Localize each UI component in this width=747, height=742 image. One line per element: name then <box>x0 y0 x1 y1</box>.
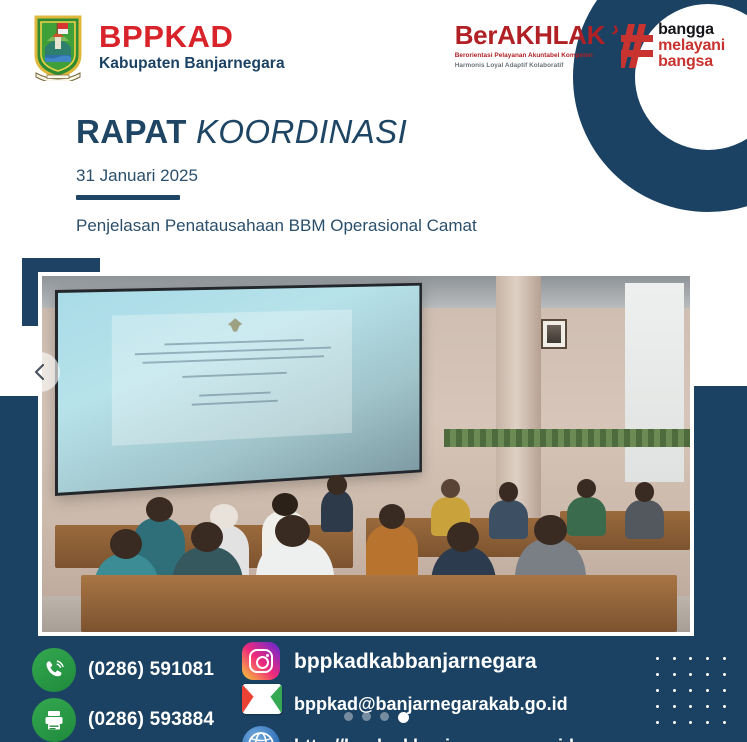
fax-icon <box>32 698 76 742</box>
contact-bar: (0286) 591081 (0286) 593884 <box>0 640 640 742</box>
poster-root: BPPKAD Kabupaten Banjarnegara BerAKHLAK … <box>0 0 747 742</box>
carousel-dot[interactable] <box>344 712 353 721</box>
email-row[interactable]: bppkad@banjarnegarakab.go.id <box>242 684 640 724</box>
fax-number: (0286) 593884 <box>88 709 214 731</box>
instagram-row[interactable]: bppkadkabbanjarnegara <box>242 642 640 682</box>
phone-row: (0286) 591081 <box>32 648 232 692</box>
berakhlak-logo: BerAKHLAK › Berorientasi Pelayanan Akunt… <box>455 22 611 70</box>
bangga-line-1: bangga <box>658 22 725 38</box>
carousel-prev-button[interactable] <box>20 352 60 392</box>
carousel-dots[interactable] <box>344 712 409 723</box>
carousel-dot[interactable] <box>380 712 389 721</box>
wall-portrait <box>541 319 567 349</box>
phone-number: (0286) 591081 <box>88 659 214 681</box>
title-word-italic: KOORDINASI <box>196 113 407 150</box>
berakhlak-wordmark: BerAKHLAK <box>455 22 605 48</box>
meeting-photo-frame <box>38 272 694 636</box>
gmail-icon <box>242 684 282 714</box>
regency-crest-icon <box>30 11 86 81</box>
globe-icon-wrap <box>242 726 282 742</box>
fax-icon-wrap <box>32 698 76 742</box>
title-rule <box>76 195 180 200</box>
brand-title: BPPKAD <box>99 21 285 52</box>
instagram-handle: bppkadkabbanjarnegara <box>294 650 537 674</box>
bangga-melayani-bangsa-logo: bangga melayani bangsa <box>621 22 725 71</box>
event-date: 31 Januari 2025 <box>76 166 477 186</box>
website-row[interactable]: http://bppkad.banjarnegara.go.id <box>242 726 640 742</box>
hashtag-icon <box>621 24 653 68</box>
web-column: bppkadkabbanjarnegara bppkad@banjarnegar… <box>242 640 640 742</box>
brand-lockup: BPPKAD Kabupaten Banjarnegara <box>30 11 285 81</box>
bangga-lines: bangga melayani bangsa <box>658 22 725 71</box>
bangga-line-2: melayani <box>658 38 725 54</box>
title-block: RAPAT KOORDINASI 31 Januari 2025 Penjela… <box>76 115 477 236</box>
page-title: RAPAT KOORDINASI <box>76 115 477 148</box>
page-header: BPPKAD Kabupaten Banjarnegara BerAKHLAK … <box>0 0 747 92</box>
bangga-line-3: bangsa <box>658 54 725 70</box>
fax-row: (0286) 593884 <box>32 698 232 742</box>
email-address: bppkad@banjarnegarakab.go.id <box>294 694 568 715</box>
carousel-dot[interactable] <box>362 712 371 721</box>
brand-text: BPPKAD Kabupaten Banjarnegara <box>99 21 285 72</box>
berakhlak-tick-icon: › <box>609 16 622 43</box>
brand-subtitle: Kabupaten Banjarnegara <box>99 56 285 72</box>
gmail-icon-wrap <box>242 684 282 724</box>
projection-screen <box>55 283 422 497</box>
tagline-line-2: Harmonis Loyal Adaptif Kolaboratif <box>455 62 564 69</box>
website-url: http://bppkad.banjarnegara.go.id <box>294 736 574 742</box>
berakhlak-tagline: Berorientasi Pelayanan Akuntabel Kompete… <box>455 51 605 70</box>
globe-icon <box>242 726 280 742</box>
title-word-bold: RAPAT <box>76 113 187 150</box>
event-description: Penjelasan Penatausahaan BBM Operasional… <box>76 216 477 236</box>
tagline-line-1: Berorientasi Pelayanan Akuntabel Kompete… <box>455 52 593 59</box>
instagram-icon <box>242 642 280 680</box>
phone-column: (0286) 591081 (0286) 593884 <box>32 640 232 742</box>
instagram-icon-wrap <box>242 642 282 682</box>
meeting-photo <box>42 276 690 632</box>
chevron-left-icon <box>31 363 49 381</box>
phone-icon-wrap <box>32 648 76 692</box>
decorative-dot-grid <box>649 650 733 730</box>
phone-icon <box>32 648 76 692</box>
carousel-dot-active[interactable] <box>398 712 409 723</box>
